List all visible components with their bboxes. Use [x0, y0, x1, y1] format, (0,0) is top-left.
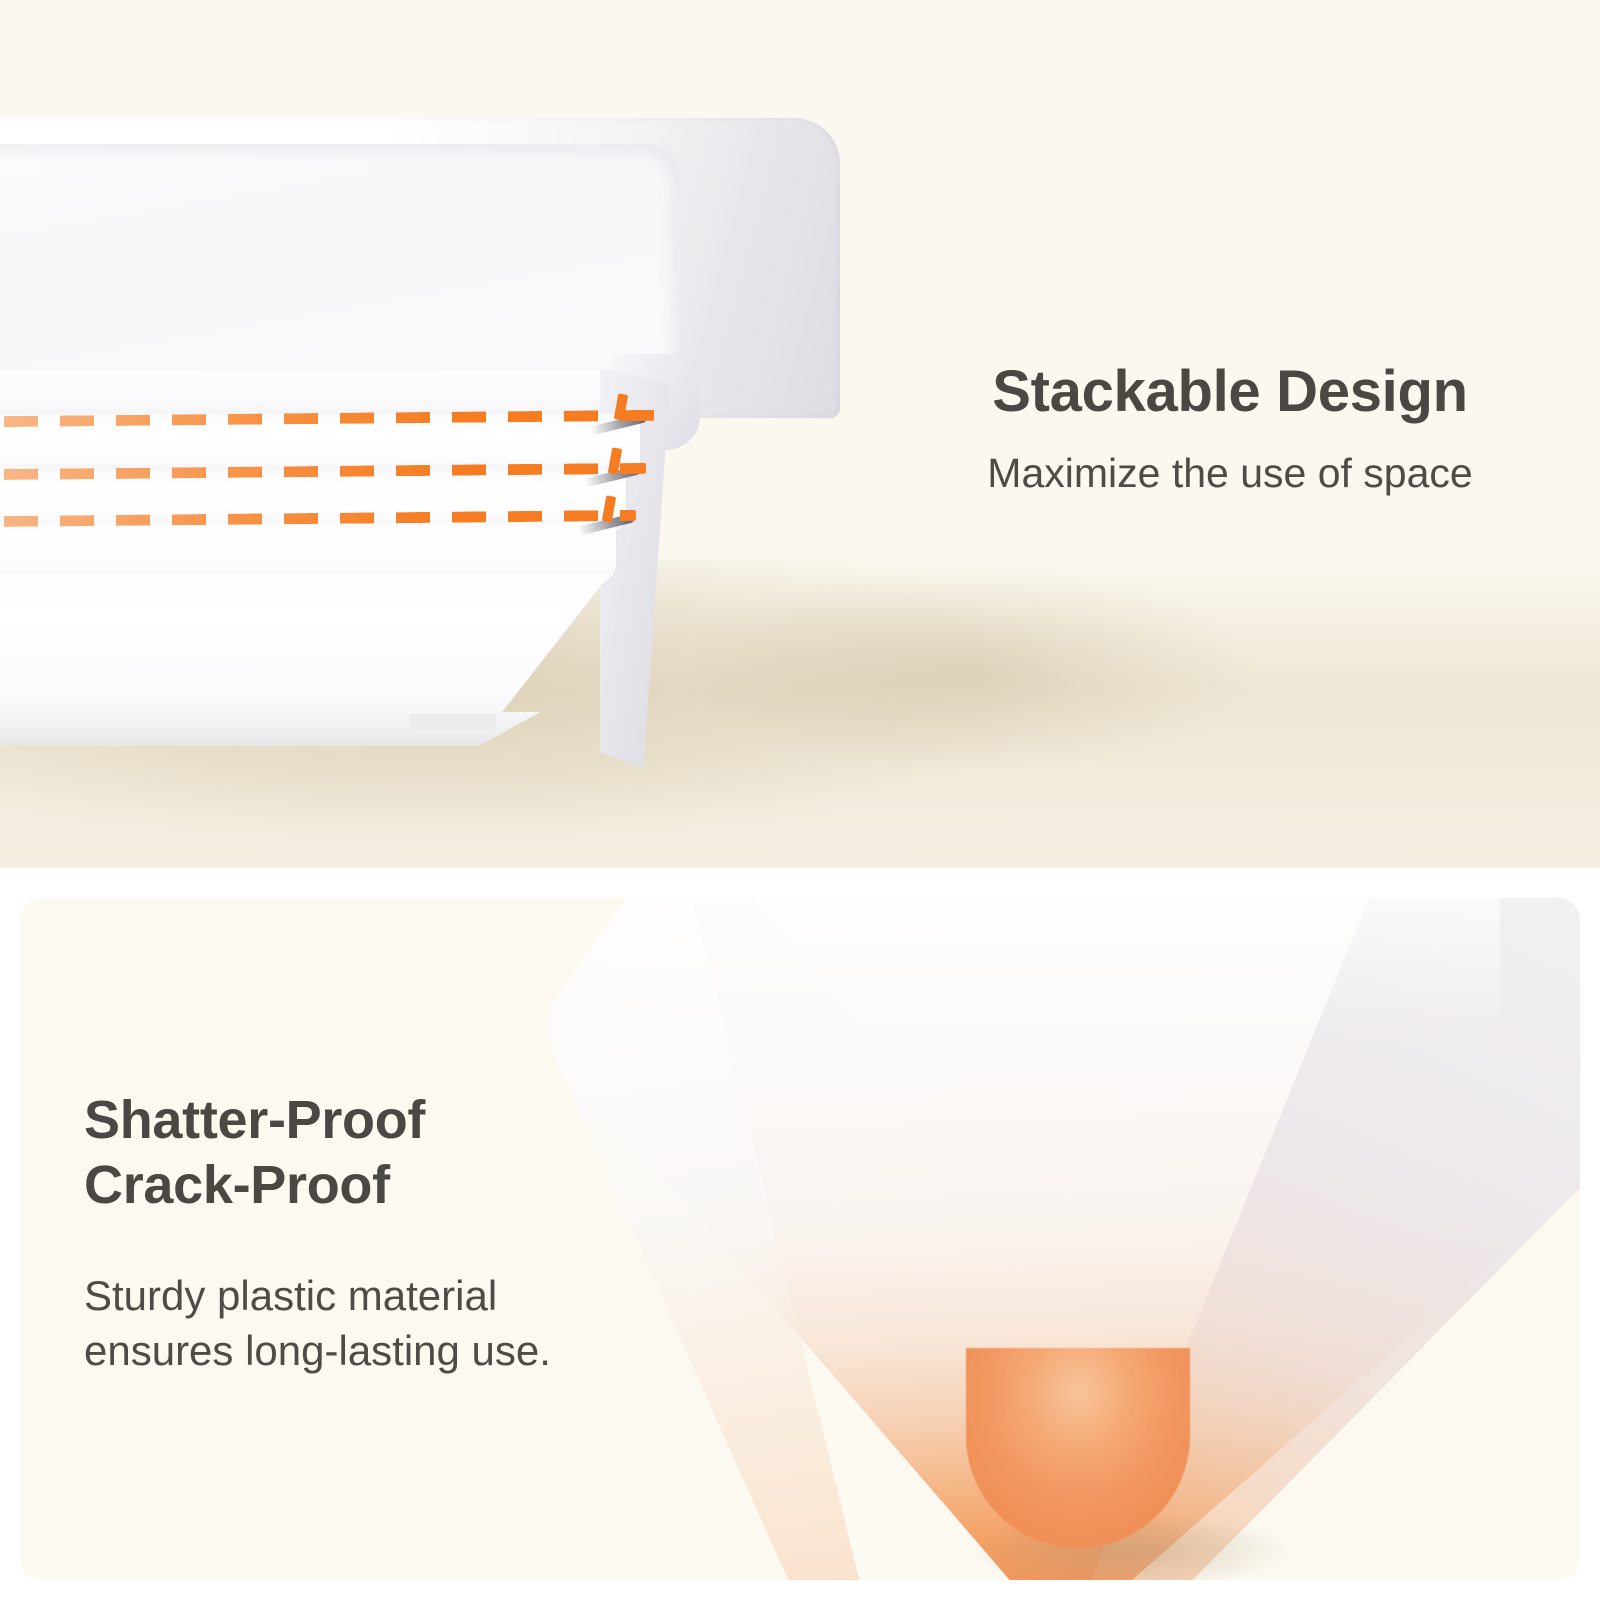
product-feature-graphic: Stackable Design Maximize the use of spa…: [0, 0, 1600, 1600]
panel-shatter-proof: Shatter-Proof Crack-Proof Sturdy plastic…: [20, 898, 1580, 1580]
stacked-trays-image: [0, 118, 840, 758]
shatter-proof-headline: Shatter-Proof Crack-Proof: [84, 1088, 724, 1218]
tray-interior-cavity: [0, 144, 680, 382]
top-text-block: Stackable Design Maximize the use of spa…: [900, 360, 1560, 498]
bottom-text-block: Shatter-Proof Crack-Proof Sturdy plastic…: [84, 1088, 724, 1378]
tray-foot-notch: [410, 714, 496, 730]
shatter-proof-subline: Sturdy plastic material ensures long-las…: [84, 1268, 724, 1379]
panel-stackable-design: Stackable Design Maximize the use of spa…: [0, 0, 1600, 868]
stackable-design-subline: Maximize the use of space: [900, 449, 1560, 498]
stackable-design-headline: Stackable Design: [900, 360, 1560, 425]
